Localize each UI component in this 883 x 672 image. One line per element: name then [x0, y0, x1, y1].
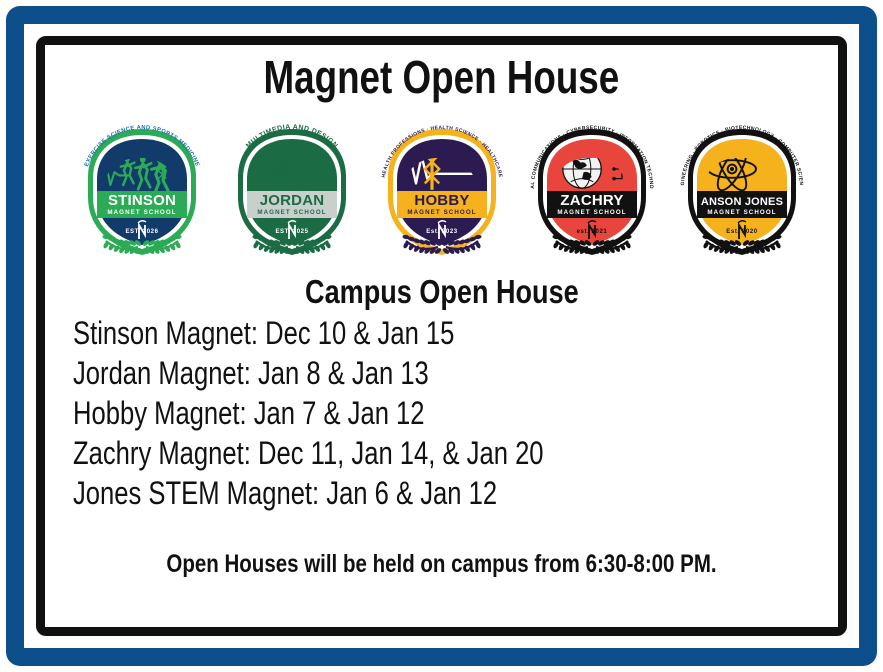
crest-school-name: ZACHRY: [560, 192, 623, 209]
crest-subtitle: MAGNET SCHOOL: [707, 209, 776, 216]
crest-school-name: HOBBY: [414, 192, 469, 209]
crest-subtitle: MAGNET SCHOOL: [407, 209, 476, 216]
school-crest-anson-jones: ANSON JONESMAGNET SCHOOLEst. 2020ENGINEE…: [672, 113, 812, 265]
schedule-line: Jones STEM Magnet: Jan 6 & Jan 12: [73, 473, 497, 513]
page-title: Magnet Open House: [264, 51, 620, 103]
schedule-list: Stinson Magnet: Dec 10 & Jan 15Jordan Ma…: [45, 313, 838, 513]
school-crest-jordan: JORDANMAGNET SCHOOLEST. 2025MULTIMEDIA A…: [222, 113, 362, 265]
open-house-details: Campus Open House Stinson Magnet: Dec 10…: [45, 273, 838, 579]
schedule-line: Zachry Magnet: Dec 11, Jan 14, & Jan 20: [73, 433, 544, 473]
footer-note: Open Houses will be held on campus from …: [166, 549, 716, 579]
school-crest-stinson: STINSONMAGNET SCHOOLEST. 2026EXERCISE SC…: [72, 113, 212, 265]
school-crest-hobby: HOBBYMAGNET SCHOOLEst. 2023HEALTH PROFES…: [372, 113, 512, 265]
schedule-line: Jordan Magnet: Jan 8 & Jan 13: [73, 353, 429, 393]
school-logo-row: STINSONMAGNET SCHOOLEST. 2026EXERCISE SC…: [72, 113, 812, 265]
crest-school-name: STINSON: [107, 192, 175, 209]
flyer-content: Magnet Open House STINSONMAGNET SCHOOLES…: [45, 45, 838, 627]
crest-subtitle: MAGNET SCHOOL: [557, 209, 626, 216]
school-crest-zachry: ZACHRYMAGNET SCHOOLest. 2021GLOBAL COMMU…: [522, 113, 662, 265]
crest-school-name: JORDAN: [259, 192, 324, 209]
crest-school-name: ANSON JONES: [700, 196, 782, 208]
section-heading: Campus Open House: [305, 273, 579, 311]
schedule-line: Hobby Magnet: Jan 7 & Jan 12: [73, 393, 425, 433]
crest-subtitle: MAGNET SCHOOL: [257, 209, 326, 216]
crest-subtitle: MAGNET SCHOOL: [107, 209, 176, 216]
flyer-canvas: Magnet Open House STINSONMAGNET SCHOOLES…: [0, 0, 883, 672]
schedule-line: Stinson Magnet: Dec 10 & Jan 15: [73, 313, 454, 353]
